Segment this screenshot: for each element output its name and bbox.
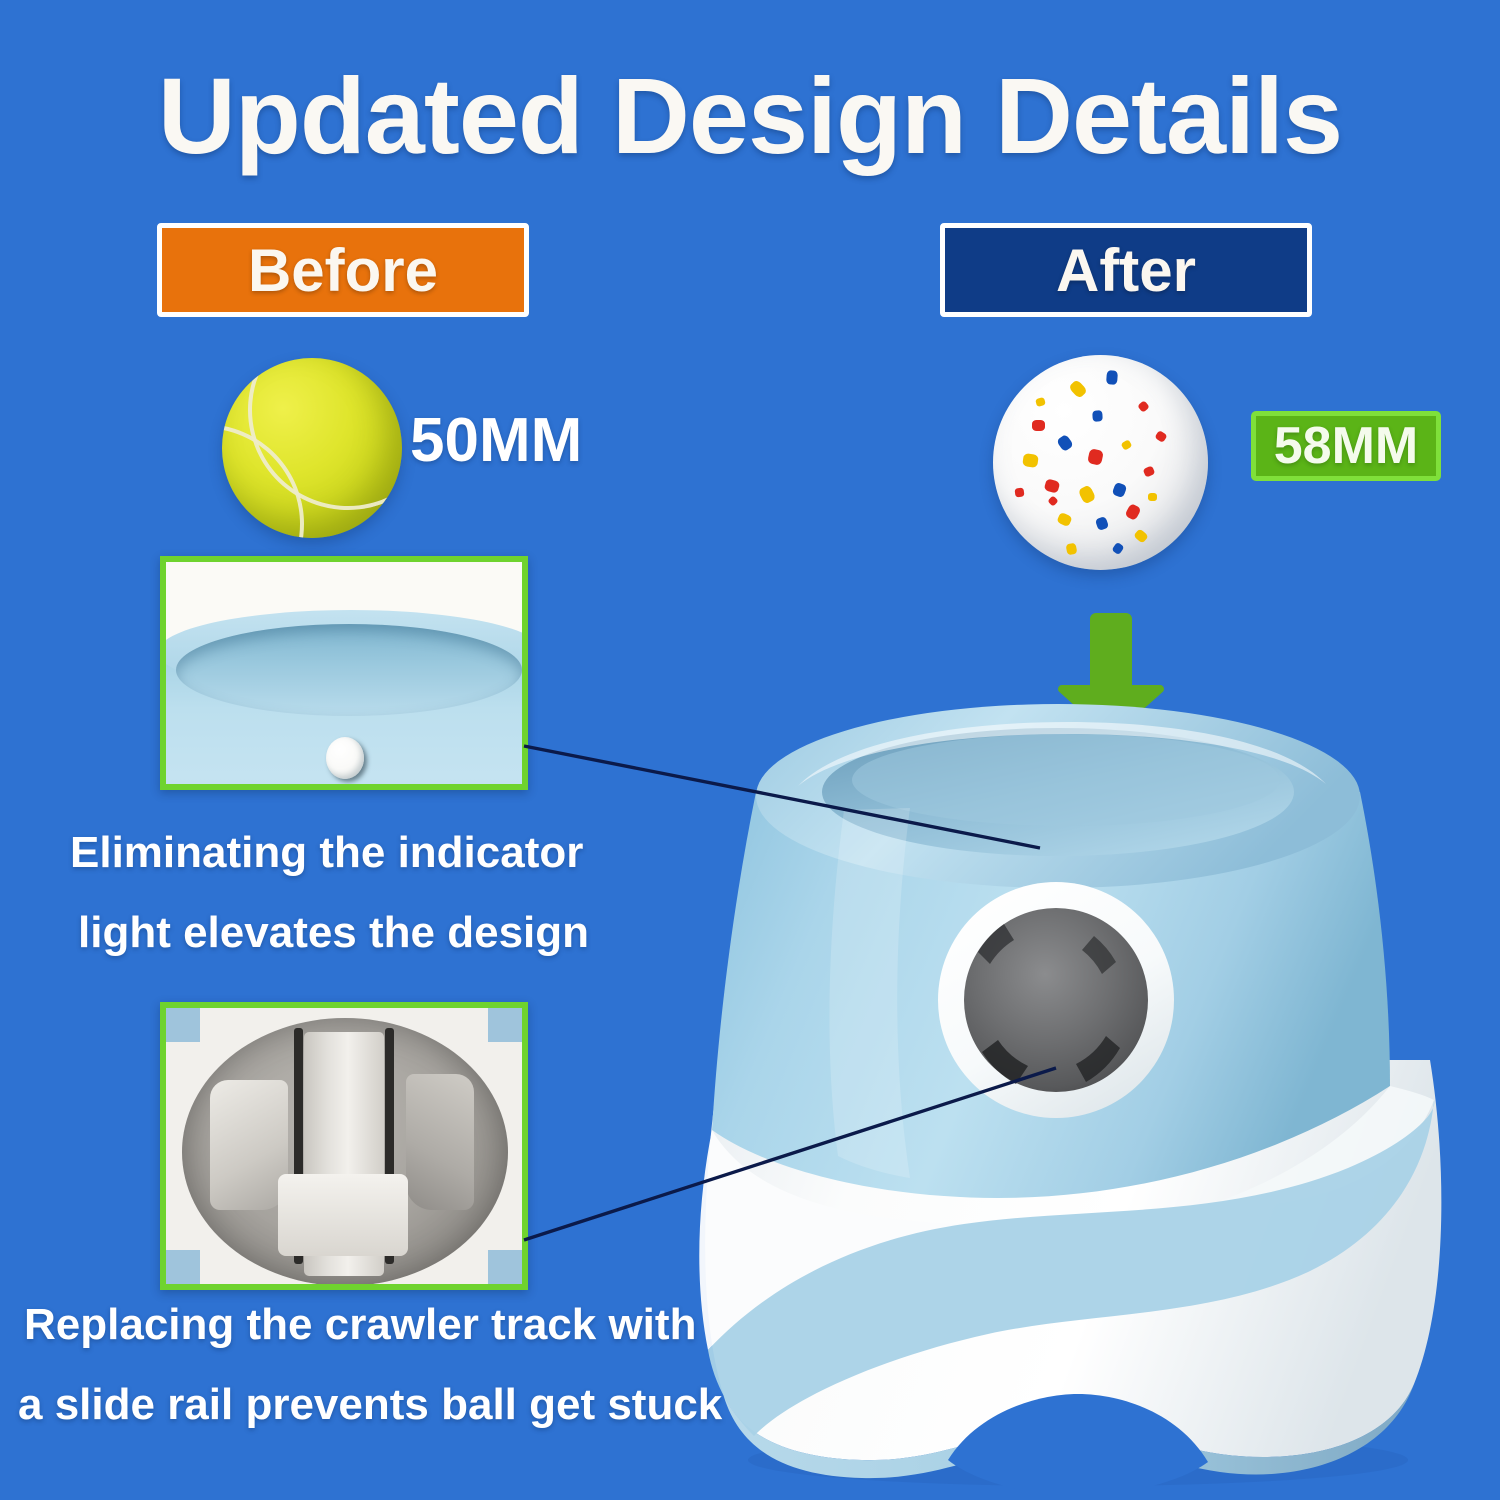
infographic-stage: Updated Design Details Before After 50MM… <box>0 0 1500 1500</box>
photo-corner <box>160 1250 200 1290</box>
launcher-interior-hole <box>182 1018 508 1286</box>
rail-carriage-block <box>278 1174 408 1256</box>
ball-speckle <box>1035 397 1046 407</box>
ball-speckle <box>1032 420 1045 431</box>
ball-speckle <box>1137 400 1150 413</box>
page-title: Updated Design Details <box>0 62 1500 170</box>
interior-wing-right <box>406 1074 474 1210</box>
ball-speckle <box>1066 543 1078 556</box>
ball-speckle <box>1112 542 1125 555</box>
ball-speckle <box>1069 379 1089 399</box>
slide-rail-caption-line1: Replacing the crawler track with <box>24 1300 696 1350</box>
ball-launcher-device <box>648 700 1500 1490</box>
photo-corner <box>488 1250 528 1290</box>
slide-rail-caption-line2: a slide rail prevents ball get stuck <box>18 1380 722 1430</box>
ball-speckle <box>1056 512 1072 527</box>
ball-speckle <box>1078 485 1097 505</box>
after-badge: After <box>940 223 1312 317</box>
bowl-interior-shape <box>176 624 522 716</box>
ball-speckle <box>1112 482 1128 498</box>
ball-speckle <box>1095 516 1109 531</box>
ball-speckle <box>1121 439 1133 450</box>
ball-speckle <box>1047 495 1058 506</box>
photo-corner <box>160 1002 200 1042</box>
ball-speckle <box>1133 529 1149 544</box>
photo-corner <box>488 1002 528 1042</box>
ball-speckle <box>1056 434 1074 452</box>
indicator-light-icon <box>326 737 364 779</box>
interior-wing-left <box>210 1080 288 1210</box>
ball-speckle <box>1092 410 1103 422</box>
ball-speckle <box>1106 370 1118 385</box>
ball-speckle <box>1125 503 1142 521</box>
after-ball-size-badge: 58MM <box>1251 411 1441 481</box>
ball-speckle <box>1155 430 1168 443</box>
ball-speckle <box>1148 493 1157 501</box>
tennis-ball-image <box>222 358 402 538</box>
ball-speckle <box>1043 478 1060 493</box>
indicator-caption-line1: Eliminating the indicator <box>70 828 583 878</box>
before-ball-size-label: 50MM <box>410 405 582 476</box>
ball-speckle <box>1142 465 1155 477</box>
ball-speckle <box>1087 448 1104 466</box>
before-badge-label: Before <box>248 236 438 305</box>
indicator-caption-line2: light elevates the design <box>78 908 589 958</box>
ball-speckle <box>1014 488 1024 498</box>
slide-rail-photo-frame <box>160 1002 528 1290</box>
bowl-cavity-highlight <box>852 734 1280 826</box>
indicator-light-photo-frame <box>160 556 528 790</box>
before-badge: Before <box>157 223 529 317</box>
after-ball-size-label: 58MM <box>1274 416 1418 476</box>
speckled-ball-image <box>993 355 1208 570</box>
ball-speckle <box>1022 453 1039 468</box>
after-badge-label: After <box>1056 236 1196 305</box>
